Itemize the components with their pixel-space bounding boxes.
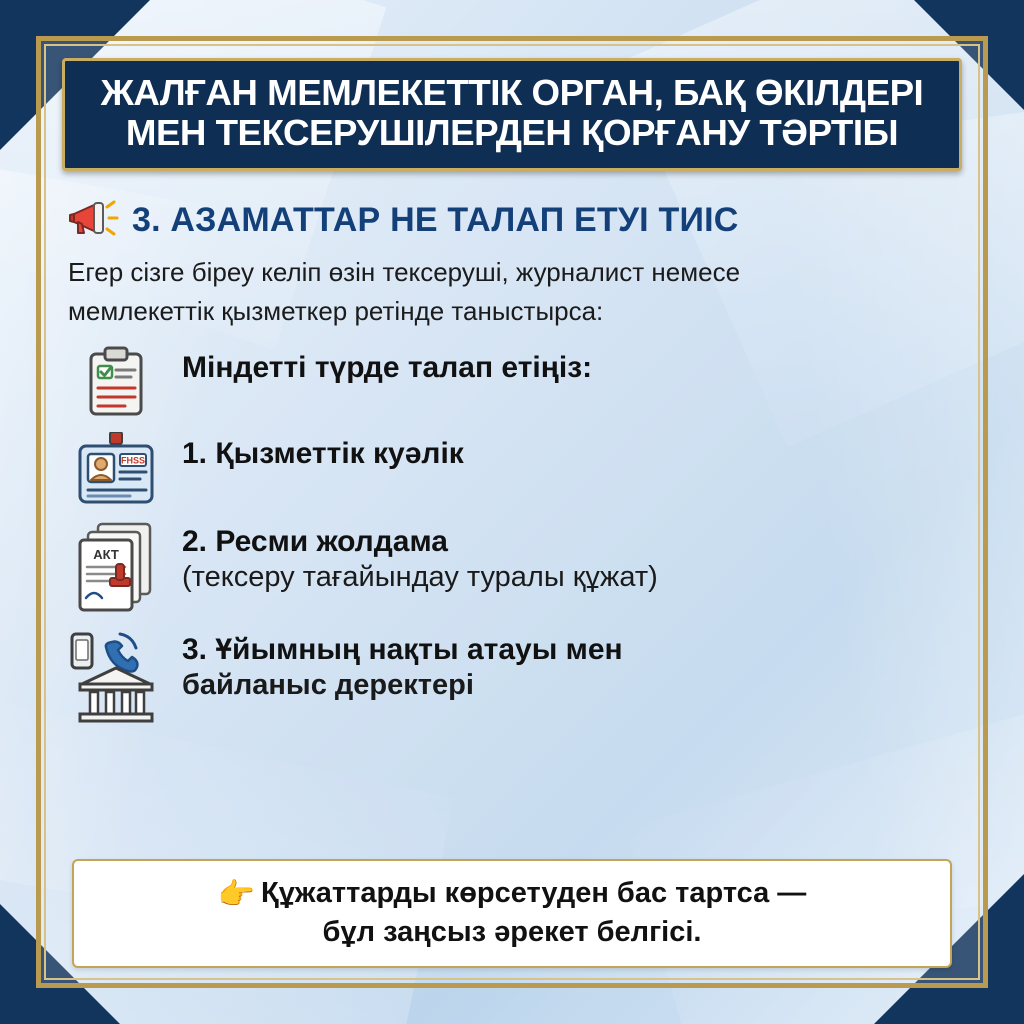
list-item-subtitle: (тексеру тағайындау туралы құжат) [182, 560, 658, 595]
id-card-icon: FHSS [68, 430, 164, 508]
svg-text:FHSS: FHSS [121, 456, 145, 466]
list-item-text: Міндетті түрде талап етіңіз: [182, 344, 592, 386]
svg-text:АКТ: АКТ [93, 547, 119, 562]
list-item-text: 1. Қызметтік куәлік [182, 430, 464, 472]
list-item-text: 2. Ресми жолдама (тексеру тағайындау тур… [182, 518, 658, 595]
section-heading: 3. АЗАМАТТАР НЕ ТАЛАП ЕТУІ ТИІС [68, 195, 962, 246]
section-heading-label: 3. АЗАМАТТАР НЕ ТАЛАП ЕТУІ ТИІС [132, 201, 738, 240]
layout-spacer [62, 724, 962, 837]
pointing-hand-icon: 👉 [218, 878, 255, 911]
megaphone-icon [68, 195, 120, 246]
callout-line-1: 👉Құжаттарды көрсетуден бас тартса — [92, 875, 932, 914]
list-item-title: 3. Ұйымның нақты атауы мен [182, 633, 623, 666]
document-stamp-icon: АКТ [68, 518, 164, 616]
callout-line-2: бұл заңсыз әрекет белгісі. [92, 914, 932, 950]
list-item: 3. Ұйымның нақты атауы мен байланыс дере… [68, 626, 962, 724]
clipboard-check-icon [68, 344, 164, 420]
poster-title-line-1: ЖАЛҒАН МЕМЛЕКЕТТІК ОРГАН, БАҚ ӨКІЛДЕРІ [70, 73, 953, 113]
list-item: FHSS 1. Қызметтік куәлік [68, 430, 962, 508]
list-item-subtitle: байланыс деректері [182, 668, 623, 703]
callout-text-1: Құжаттарды көрсетуден бас тартса — [261, 877, 806, 909]
warning-callout: 👉Құжаттарды көрсетуден бас тартса — бұл … [72, 859, 952, 968]
intro-line-2: мемлекеттік қызметкер ретінде таныстырса… [68, 295, 956, 328]
poster-canvas: ЖАЛҒАН МЕМЛЕКЕТТІК ОРГАН, БАҚ ӨКІЛДЕРІ М… [0, 0, 1024, 1024]
government-building-phone-icon [68, 626, 164, 724]
poster-title-box: ЖАЛҒАН МЕМЛЕКЕТТІК ОРГАН, БАҚ ӨКІЛДЕРІ М… [62, 58, 962, 171]
poster-title-line-2: МЕН ТЕКСЕРУШІЛЕРДЕН ҚОРҒАНУ ТӘРТІБІ [70, 113, 953, 153]
list-item: АКТ 2. Ресми жолдама (тексеру тағайындау… [68, 518, 962, 616]
list-item-text: 3. Ұйымның нақты атауы мен байланыс дере… [182, 626, 623, 703]
list-item: Міндетті түрде талап етіңіз: [68, 344, 962, 420]
poster-content: ЖАЛҒАН МЕМЛЕКЕТТІК ОРГАН, БАҚ ӨКІЛДЕРІ М… [36, 36, 988, 988]
intro-line-1: Егер сізге біреу келіп өзін тексеруші, ж… [68, 256, 956, 289]
list-item-title: 2. Ресми жолдама [182, 525, 448, 558]
